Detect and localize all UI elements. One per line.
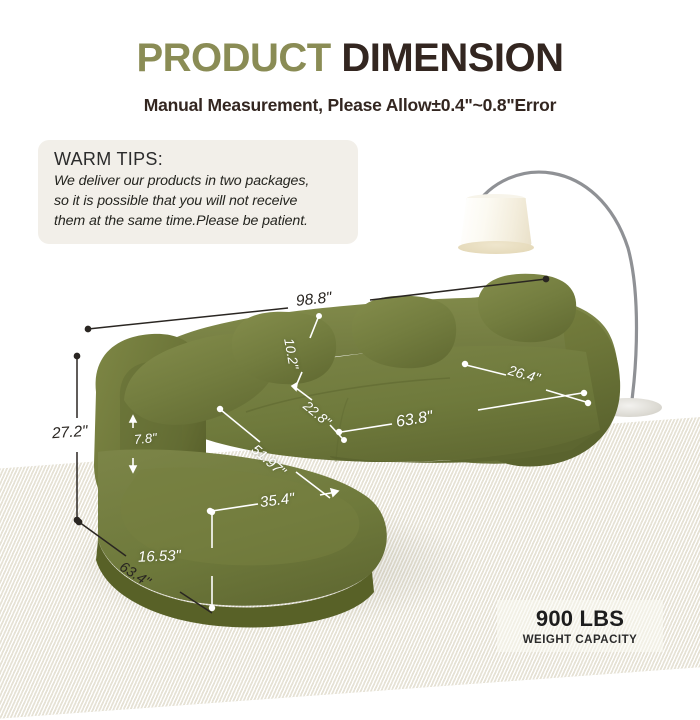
- weight-capacity-badge: 900 LBS WEIGHT CAPACITY: [497, 600, 663, 652]
- dimension-label-seat-height: 16.53": [138, 547, 181, 565]
- page-subtitle: Manual Measurement, Please Allow±0.4"~0.…: [0, 95, 700, 116]
- weight-capacity-caption: WEIGHT CAPACITY: [523, 634, 638, 646]
- page-title: PRODUCT DIMENSION: [0, 38, 700, 78]
- dimension-label-overall-height: 27.2": [51, 423, 88, 443]
- page-title-product: PRODUCT: [136, 36, 330, 80]
- warm-tips-line-2: so it is possible that you will not rece…: [54, 191, 344, 211]
- warm-tips-line-3: them at the same time.Please be patient.: [54, 211, 344, 231]
- warm-tips-line-1: We deliver our products in two packages,: [54, 171, 344, 191]
- page-title-dimension: DIMENSION: [341, 36, 563, 80]
- product-dimension-infographic: 98.8" 27.2" 7.8" 10.2" 22.8" 63.8" 26.4"…: [0, 0, 700, 700]
- weight-capacity-value: 900 LBS: [536, 606, 624, 632]
- warm-tips-heading: WARM TIPS:: [54, 149, 344, 170]
- warm-tips-box: WARM TIPS: We deliver our products in tw…: [38, 140, 358, 244]
- dimension-label-armrest-height: 7.8": [133, 430, 157, 447]
- dimension-label-overall-width: 98.8": [295, 289, 332, 311]
